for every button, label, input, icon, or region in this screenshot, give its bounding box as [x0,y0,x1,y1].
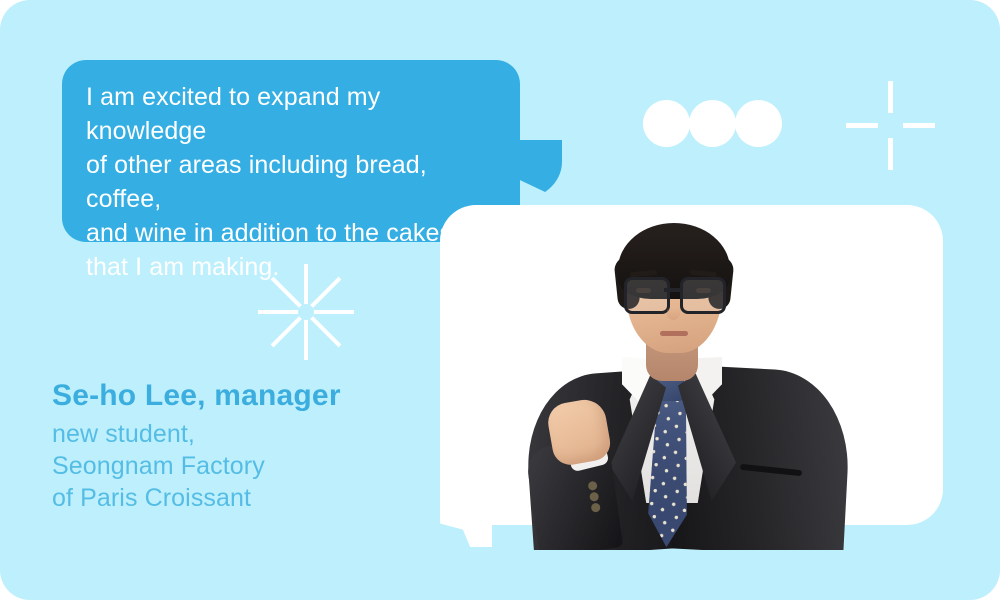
circle-icon [689,100,736,147]
circle-icon [643,100,690,147]
person-details: new student, Seongnam Factory of Paris C… [52,418,412,514]
plus-arm-left [846,123,878,128]
plus-arm-top [888,81,893,113]
person-detail-line: new student, [52,418,412,450]
circle-icon [735,100,782,147]
person-name: Se-ho Lee, manager [52,378,412,414]
photo-speech-bubble [440,205,943,525]
star-center-gap [298,304,314,320]
person-detail-line: of Paris Croissant [52,482,412,514]
person-detail-line: Seongnam Factory [52,450,412,482]
testimonial-card: I am excited to expand my knowledge of o… [0,0,1000,600]
plus-crosshair-icon [846,81,935,170]
three-circles-icon [643,100,783,147]
quote-bubble-tail [514,140,562,200]
plus-arm-right [903,123,935,128]
attribution-block: Se-ho Lee, manager new student, Seongnam… [52,378,412,514]
screenshot-root: I am excited to expand my knowledge of o… [0,0,1000,600]
plus-arm-bottom [888,138,893,170]
